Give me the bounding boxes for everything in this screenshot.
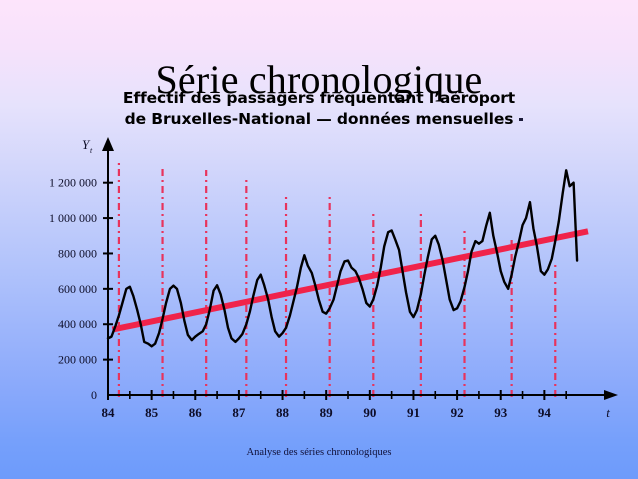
x-tick-label-87: 87	[232, 405, 246, 420]
y-tick-label-600000: 600 000	[58, 282, 97, 296]
x-tick-label-85: 85	[145, 405, 159, 420]
series-line-0	[108, 170, 577, 346]
y-tick-label-0: 0	[91, 388, 97, 402]
y-tick-label-400000: 400 000	[58, 317, 97, 331]
x-tick-label-90: 90	[363, 405, 376, 420]
x-axis-name: t	[606, 405, 610, 420]
x-tick-label-86: 86	[189, 405, 203, 420]
slide-footer: Analyse des séries chronologiques	[0, 447, 638, 458]
subtitle-line-1: Effectif des passagers fréquentant l’aér…	[0, 88, 638, 109]
x-tick-label-93: 93	[494, 405, 508, 420]
page-subtitle: Effectif des passagers fréquentant l’aér…	[0, 88, 638, 130]
y-axis-name-subscript: t	[90, 146, 93, 155]
x-tick-label-89: 89	[320, 405, 334, 420]
x-tick-label-92: 92	[451, 405, 464, 420]
chart-svg: 0200 000400 000600 000800 0001 000 0001 …	[0, 125, 638, 425]
x-tick-label-94: 94	[538, 405, 552, 420]
season-marker-group	[119, 160, 555, 397]
y-tick-label-1000000: 1 000 000	[49, 211, 97, 225]
series-line-group	[108, 170, 577, 346]
y-tick-label-200000: 200 000	[58, 353, 97, 367]
x-tick-label-91: 91	[407, 405, 420, 420]
x-tick-label-88: 88	[276, 405, 290, 420]
y-axis-arrow	[102, 137, 114, 151]
x-axis-arrow	[604, 390, 618, 400]
time-series-chart: 0200 000400 000600 000800 0001 000 0001 …	[0, 125, 638, 425]
slide-canvas: Série chronologique Effectif des passage…	[0, 0, 638, 479]
y-tick-label-800000: 800 000	[58, 246, 97, 260]
stray-dot-artifact	[519, 118, 523, 121]
y-tick-label-1200000: 1 200 000	[49, 176, 97, 190]
x-tick-label-84: 84	[102, 405, 116, 420]
